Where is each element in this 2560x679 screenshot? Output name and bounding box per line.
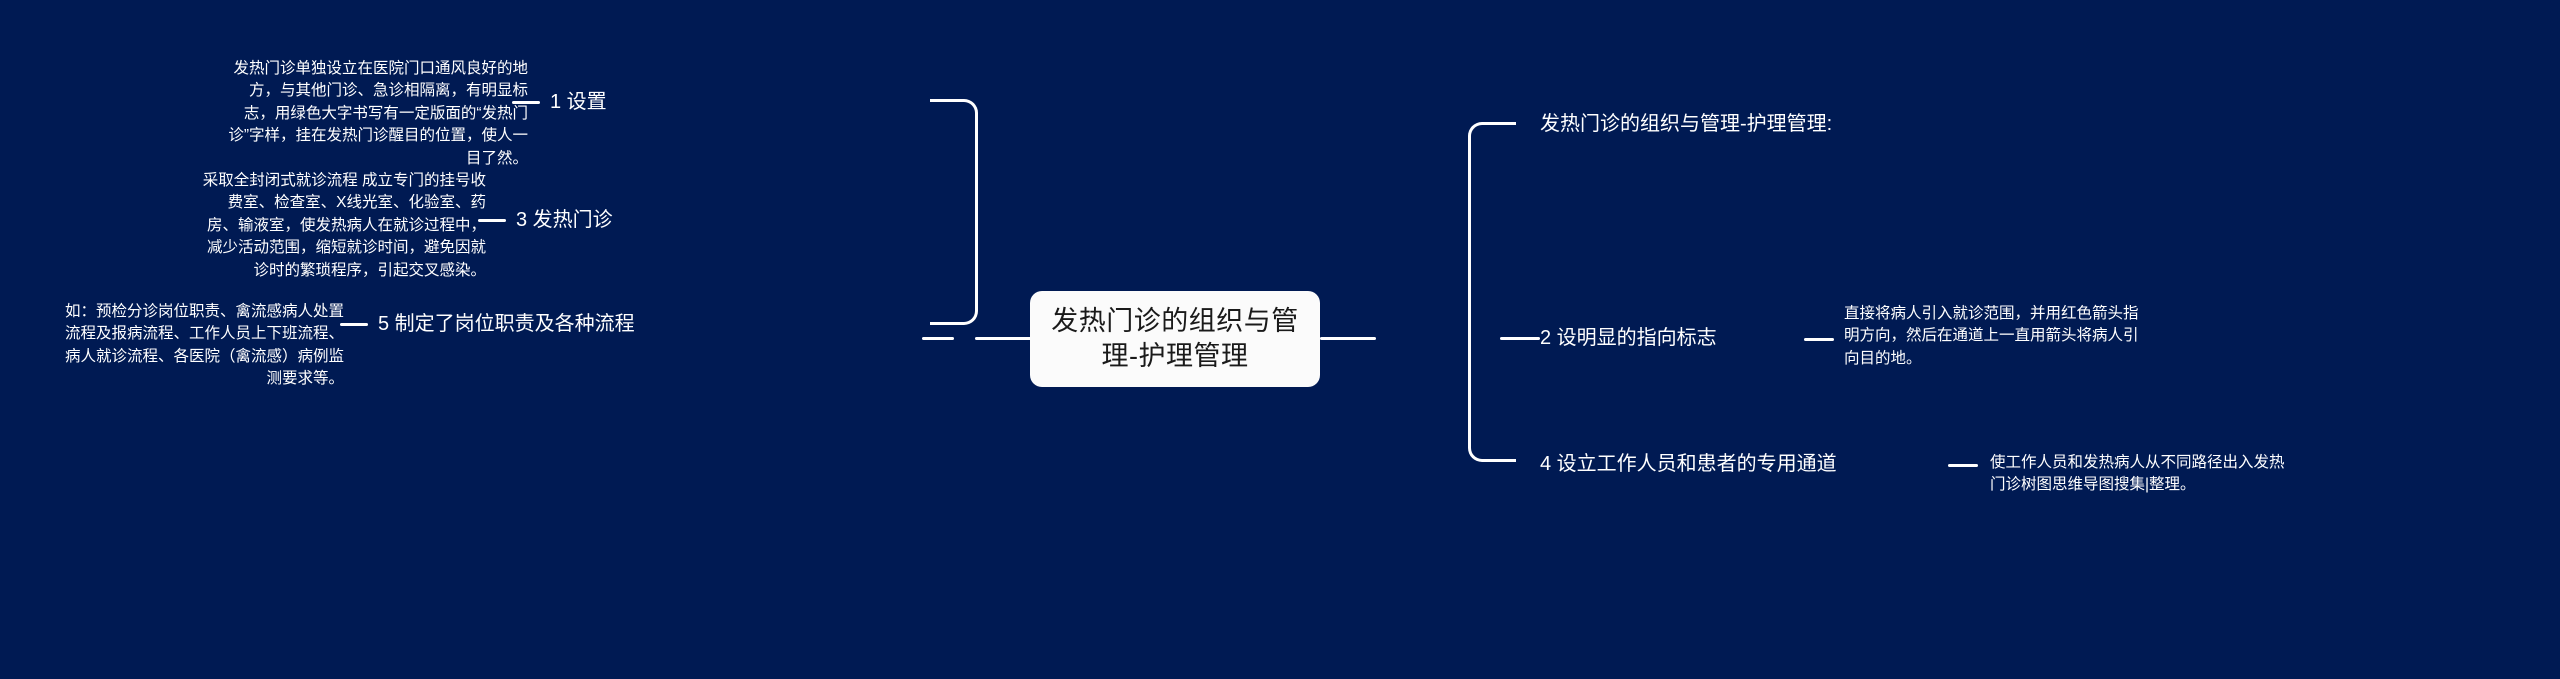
bracket-left bbox=[930, 99, 978, 325]
branch-label-setup[interactable]: 1 设置 bbox=[550, 90, 607, 115]
branch-label-fever-clinic[interactable]: 3 发热门诊 bbox=[516, 208, 613, 233]
connector-left-middle-tick bbox=[922, 337, 954, 340]
connector-right-middle-tick bbox=[1500, 337, 1540, 340]
root-node-label: 发热门诊的组织与管理-护理管理 bbox=[1044, 304, 1306, 373]
branch-label-duties-procedures[interactable]: 5 制定了岗位职责及各种流程 bbox=[378, 312, 635, 337]
mindmap-canvas: 发热门诊单独设立在医院门口通风良好的地方，与其他门诊、急诊相隔离，有明显标志，用… bbox=[0, 0, 2560, 679]
leaf-detail-duties-procedures: 如：预检分诊岗位职责、禽流感病人处置流程及报病流程、工作人员上下班流程、病人就诊… bbox=[56, 301, 344, 391]
leaf-detail-fever-clinic: 采取全封闭式就诊流程 成立专门的挂号收费室、检查室、X线光室、化验室、药房、输液… bbox=[198, 170, 486, 282]
leaf-detail-signage: 直接将病人引入就诊范围，并用红色箭头指明方向，然后在通道上一直用箭头将病人引向目… bbox=[1844, 303, 2144, 370]
leaf-detail-dedicated-passage: 使工作人员和发热病人从不同路径出入发热门诊树图思维导图搜集|整理。 bbox=[1990, 452, 2290, 497]
connector-dash-duties-procedures bbox=[340, 323, 368, 326]
connector-left-spine-to-root bbox=[975, 337, 1033, 340]
connector-dash-dedicated-passage bbox=[1948, 464, 1978, 467]
leaf-detail-setup: 发热门诊单独设立在医院门口通风良好的地方，与其他门诊、急诊相隔离，有明显标志，用… bbox=[228, 58, 528, 170]
root-node[interactable]: 发热门诊的组织与管理-护理管理 bbox=[1030, 291, 1320, 387]
branch-label-dedicated-passage[interactable]: 4 设立工作人员和患者的专用通道 bbox=[1540, 452, 1837, 477]
connector-root-to-right-spine bbox=[1320, 337, 1376, 340]
connector-dash-signage bbox=[1804, 338, 1834, 341]
branch-label-title-note[interactable]: 发热门诊的组织与管理-护理管理: bbox=[1540, 112, 1832, 137]
branch-label-signage[interactable]: 2 设明显的指向标志 bbox=[1540, 326, 1717, 351]
bracket-right bbox=[1468, 122, 1516, 462]
